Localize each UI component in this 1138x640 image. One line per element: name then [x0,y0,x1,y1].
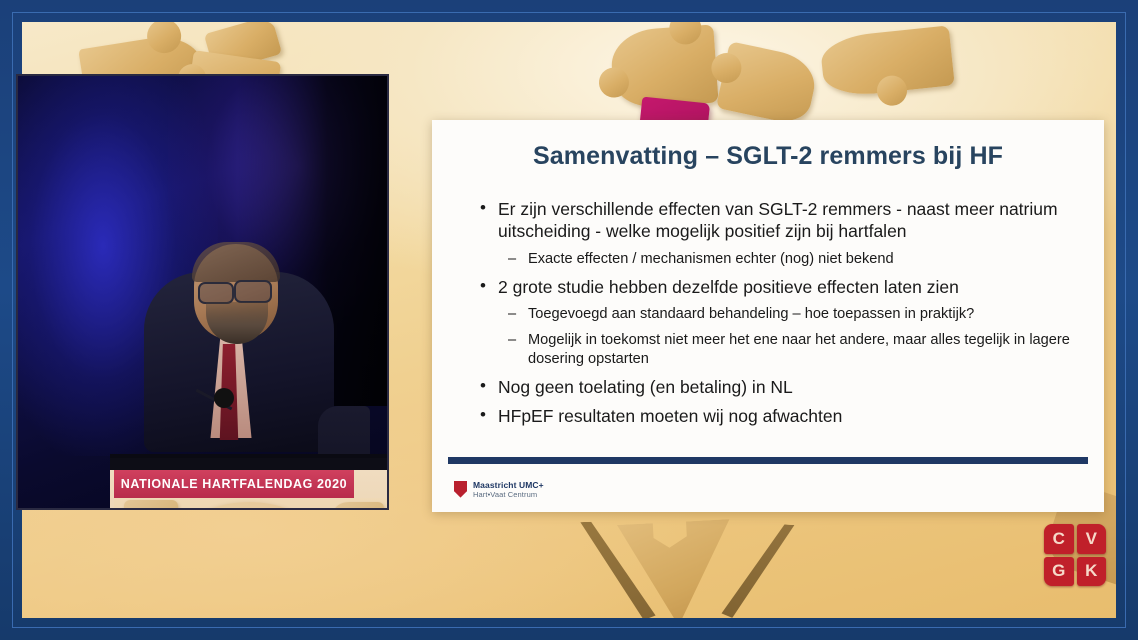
sub-bullet-item: Toegevoegd aan standaard behandeling – h… [476,305,1076,324]
slide-footer: Maastricht UMC+ Hart•Vaat Centrum [454,480,544,500]
slide-title: Samenvatting – SGLT-2 remmers bij HF [432,142,1104,171]
bullet-item: 2 grote studie hebben dezelfde positieve… [476,276,1076,298]
puzzle-piece-icon [124,500,178,510]
footer-organisation: Maastricht UMC+ [473,480,544,491]
podium-front-artwork [114,498,389,510]
cvgk-tile-c: C [1044,524,1074,554]
puzzle-piece-icon [716,41,820,127]
puzzle-piece-icon [609,24,718,109]
v-puzzle-piece-icon [609,519,742,618]
puzzle-piece-icon [819,25,955,98]
slide-footer-rule [448,457,1088,464]
podium-banner-text: NATIONALE HARTFALENDAG 2020 [121,477,347,491]
cvgk-tile-g: G [1044,557,1074,587]
bullet-item: Er zijn verschillende effecten van SGLT-… [476,198,1076,243]
eyeglasses-icon [234,280,272,303]
sub-bullet-item: Exacte effecten / mechanismen echter (no… [476,250,1076,269]
puzzle-piece-icon [334,502,384,510]
eyeglasses-icon [198,282,234,304]
cvgk-tile-v: V [1077,524,1107,554]
presentation-slide[interactable]: Samenvatting – SGLT-2 remmers bij HF Er … [432,120,1104,512]
puzzle-circle-artwork [174,502,324,510]
maastricht-umc-shield-icon [454,481,467,498]
cvgk-logo[interactable]: C V G K [1044,524,1106,586]
microphone-icon [214,388,234,408]
sub-bullet-item: Mogelijk in toekomst niet meer het ene n… [476,331,1076,369]
podium-banner: NATIONALE HARTFALENDAG 2020 [114,470,354,498]
bullet-item: Nog geen toelating (en betaling) in NL [476,376,1076,398]
bullet-item: HFpEF resultaten moeten wij nog afwachte… [476,405,1076,427]
broadcast-stage: NATIONALE HARTFALENDAG 2020 Samenvatting… [0,0,1138,640]
speaker-video-panel[interactable]: NATIONALE HARTFALENDAG 2020 [16,74,389,510]
footer-department: Hart•Vaat Centrum [473,490,544,500]
slide-bullet-list: Er zijn verschillende effecten van SGLT-… [476,198,1076,435]
cvgk-tile-k: K [1077,557,1107,587]
